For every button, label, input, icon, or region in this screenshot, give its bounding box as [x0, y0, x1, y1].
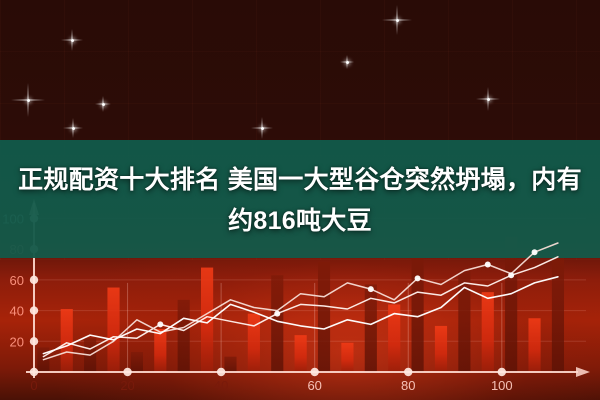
headline: 正规配资十大排名 美国一大型谷仓突然坍塌，内有 约816吨大豆: [0, 160, 600, 242]
headline-line-1: 正规配资十大排名 美国一大型谷仓突然坍塌，内有: [18, 166, 582, 194]
headline-line-2: 约816吨大豆: [12, 201, 588, 242]
screenshot-root: 20406080100020406080100 正规配资十大排名 美国一大型谷仓…: [0, 0, 600, 400]
